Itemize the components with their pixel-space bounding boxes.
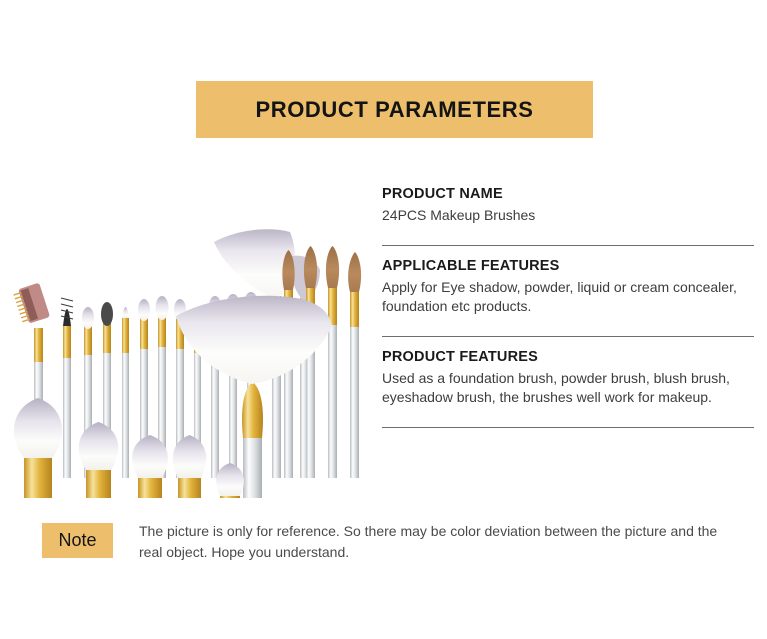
kabuki-brush-5	[216, 463, 244, 498]
info-section-product-name: PRODUCT NAME 24PCS Makeup Brushes	[382, 186, 754, 225]
section-body: 24PCS Makeup Brushes	[382, 206, 754, 225]
header-banner: PRODUCT PARAMETERS	[196, 81, 593, 138]
section-body: Used as a foundation brush, powder brush…	[382, 369, 754, 407]
info-section-applicable-features: APPLICABLE FEATURES Apply for Eye shadow…	[382, 258, 754, 316]
product-info-list: PRODUCT NAME 24PCS Makeup Brushes APPLIC…	[382, 186, 754, 428]
kabuki-brush-2	[79, 422, 119, 498]
section-heading: APPLICABLE FEATURES	[382, 258, 754, 274]
brown-brush-3	[326, 246, 339, 478]
section-body: Apply for Eye shadow, powder, liquid or …	[382, 278, 754, 316]
note-text: The picture is only for reference. So th…	[139, 521, 739, 563]
section-heading: PRODUCT FEATURES	[382, 349, 754, 365]
makeup-brush-set-illustration	[0, 138, 378, 498]
liner-brush-1	[122, 307, 129, 478]
note-label: Note	[58, 530, 96, 551]
note-badge: Note	[42, 523, 113, 558]
page-title: PRODUCT PARAMETERS	[255, 97, 533, 123]
kabuki-brush-3	[132, 435, 168, 498]
section-divider-3	[382, 427, 754, 428]
kabuki-brush-4	[173, 435, 206, 498]
section-heading: PRODUCT NAME	[382, 186, 754, 202]
info-section-product-features: PRODUCT FEATURES Used as a foundation br…	[382, 349, 754, 407]
product-image	[0, 138, 378, 498]
product-parameters-page: PRODUCT PARAMETERS	[0, 0, 767, 639]
kabuki-brush-1	[14, 398, 62, 498]
spoolie-brush	[61, 298, 73, 478]
brown-brush-4	[348, 252, 361, 478]
